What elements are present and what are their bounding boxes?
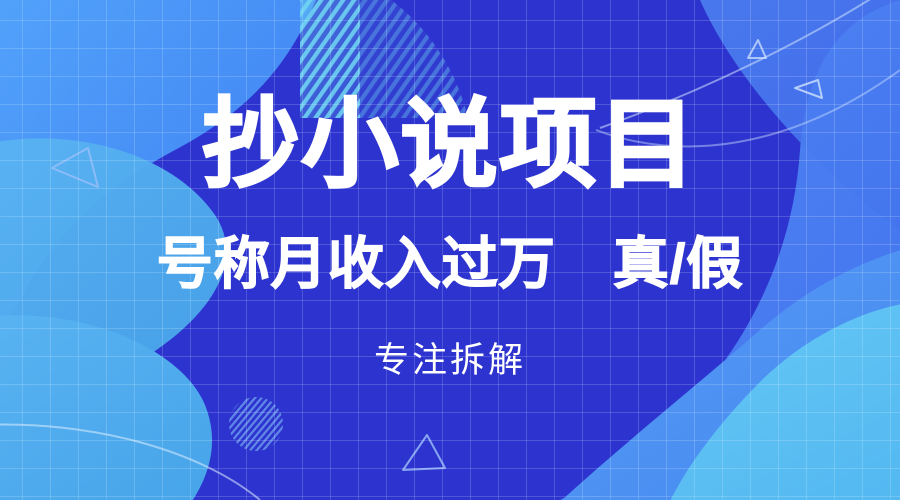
triangle-outline-small-lower: [795, 80, 822, 98]
large-arc-top-right: [600, 0, 900, 128]
striped-quarter-circle-fade: [360, 0, 540, 170]
text-block: 抄小说项目 号称月收入过万 真/假 专注拆解: [0, 0, 900, 500]
background-decoration-layer: [0, 0, 900, 500]
triangle-outline-small-upper: [748, 40, 766, 58]
striped-quarter-circle: [250, 0, 510, 160]
corner-blob-top-left-lobe: [0, 138, 226, 470]
large-arc-bottom-left: [0, 424, 260, 500]
triangle-outline-left: [52, 148, 98, 187]
right-gradient-wedge: [560, 0, 900, 500]
right-gradient-fill-upper: [640, 0, 900, 230]
tagline: 专注拆解: [0, 343, 900, 378]
base-background: [0, 0, 900, 500]
striped-circle: [228, 396, 284, 452]
corner-blob-top-left: [0, 0, 330, 400]
corner-blob-bottom-left: [0, 315, 212, 500]
page-title: 抄小说项目: [0, 96, 900, 193]
subtitle: 号称月收入过万 真/假: [0, 236, 900, 292]
large-arc-top-right-2: [596, 70, 900, 146]
triangle-outline-center: [403, 435, 445, 470]
corner-blob-bottom-right-blue: [520, 240, 900, 500]
poster-canvas: 抄小说项目 号称月收入过万 真/假 专注拆解: [0, 0, 900, 500]
grid-pattern-overlay: [0, 0, 900, 500]
corner-blob-bottom-right-cyan: [655, 300, 900, 500]
